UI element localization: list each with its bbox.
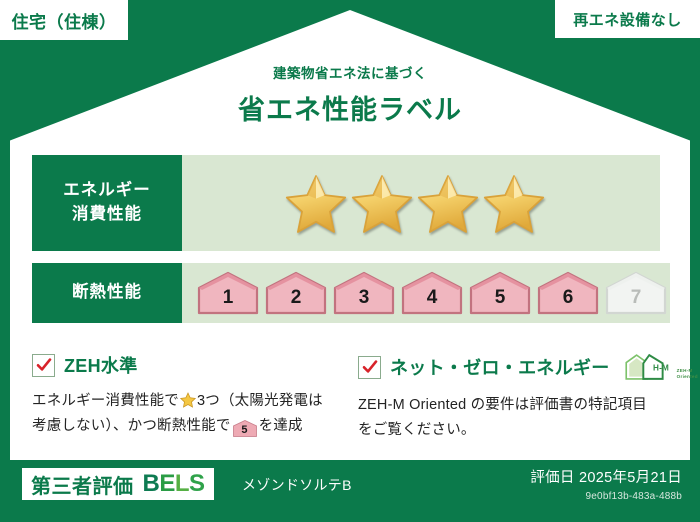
zeh-desc-part3: を達成 bbox=[259, 418, 303, 434]
star-icon bbox=[417, 173, 479, 233]
page-main-title: 省エネ性能ラベル bbox=[0, 88, 700, 127]
grade-badge-2: 2 bbox=[264, 271, 328, 315]
net-zero-title: ネット・ゼロ・エネルギー bbox=[390, 354, 610, 380]
inline-grade-value: 5 bbox=[233, 420, 257, 440]
bels-en-logo: BELS bbox=[143, 470, 205, 498]
star-icon bbox=[351, 173, 413, 233]
row-energy-label: エネルギー 消費性能 bbox=[32, 155, 182, 251]
grade-badge-value: 7 bbox=[631, 287, 642, 315]
row-energy-label-line1: エネルギー bbox=[63, 179, 151, 203]
grade-badge-3: 3 bbox=[332, 271, 396, 315]
grade-badge-value: 6 bbox=[563, 287, 574, 315]
star-icon bbox=[483, 173, 545, 233]
bels-badge: 第三者評価 BELS bbox=[22, 468, 214, 500]
grade-badge-5: 5 bbox=[468, 271, 532, 315]
tag-building-type: 住宅（住棟） bbox=[0, 0, 128, 40]
zeh-logo-caption: ZEH-M Oriented bbox=[677, 368, 698, 382]
zeh-standard-heading: ZEH水準 bbox=[32, 352, 332, 378]
grade-badge-7: 7 bbox=[604, 271, 668, 315]
row-insulation-label-line1: 断熱性能 bbox=[72, 281, 142, 305]
net-zero-description: ZEH-M Oriented の要件は評価書の特記項目をご覧ください。 bbox=[358, 393, 660, 442]
insulation-grade-scale: 1234567 bbox=[182, 263, 670, 323]
star-rating bbox=[182, 155, 660, 251]
check-icon bbox=[358, 356, 381, 379]
grade-badge-value: 4 bbox=[427, 287, 438, 315]
page-title: 建築物省エネ法に基づく 省エネ性能ラベル bbox=[0, 62, 700, 127]
row-insulation-label: 断熱性能 bbox=[32, 263, 182, 323]
grade-badge-4: 4 bbox=[400, 271, 464, 315]
footer-meta: 評価日 2025年5月21日 9e0bf13b-483a-488b bbox=[530, 466, 682, 502]
check-icon bbox=[32, 354, 55, 377]
grade-badge-value: 5 bbox=[495, 287, 506, 315]
grade-badge-value: 2 bbox=[291, 287, 302, 315]
evaluation-id: 9e0bf13b-483a-488b bbox=[530, 491, 682, 502]
info-net-zero-energy: ネット・ゼロ・エネルギー H-M ZEH-M Oriented ZEH-M Or… bbox=[358, 352, 660, 442]
grade-badge-6: 6 bbox=[536, 271, 600, 315]
footer-bar: 第三者評価 BELS メゾンドソルテB 評価日 2025年5月21日 9e0bf… bbox=[0, 460, 700, 522]
zeh-m-oriented-logo: H-M ZEH-M Oriented bbox=[624, 352, 698, 382]
row-insulation-performance: 断熱性能 1234567 bbox=[32, 263, 660, 323]
row-energy-performance: エネルギー 消費性能 bbox=[32, 155, 660, 251]
net-zero-heading: ネット・ゼロ・エネルギー H-M ZEH-M Oriented bbox=[358, 352, 660, 382]
zeh-desc-part1: エネルギー消費性能で bbox=[32, 393, 179, 409]
zeh-logo-caption-line1: ZEH-M bbox=[677, 368, 693, 373]
grade-badge-value: 1 bbox=[223, 287, 234, 315]
zeh-standard-description: エネルギー消費性能で 3つ（太陽光発電は考慮しない）、かつ断熱性能で 5 を達成 bbox=[32, 389, 332, 438]
bels-jp-label: 第三者評価 bbox=[31, 470, 134, 499]
building-name: メゾンドソルテB bbox=[242, 475, 352, 495]
row-energy-label-line2: 消費性能 bbox=[72, 203, 142, 227]
energy-performance-label: 住宅（住棟） 再エネ設備なし 建築物省エネ法に基づく 省エネ性能ラベル エネルギ… bbox=[0, 0, 700, 522]
star-icon bbox=[285, 173, 347, 233]
star-icon bbox=[180, 392, 196, 408]
zeh-standard-title: ZEH水準 bbox=[64, 352, 138, 378]
tag-renewable-equipment: 再エネ設備なし bbox=[555, 0, 700, 38]
grade-badge-1: 1 bbox=[196, 271, 260, 315]
inline-grade-badge: 5 bbox=[233, 420, 257, 437]
info-zeh-standard: ZEH水準 エネルギー消費性能で 3つ（太陽光発電は考慮しない）、かつ断熱性能で… bbox=[32, 352, 332, 438]
grade-badge-value: 3 bbox=[359, 287, 370, 315]
page-subtitle: 建築物省エネ法に基づく bbox=[0, 62, 700, 82]
svg-text:H-M: H-M bbox=[653, 364, 669, 373]
evaluation-date: 評価日 2025年5月21日 bbox=[530, 466, 682, 487]
zeh-logo-caption-line2: Oriented bbox=[677, 374, 698, 379]
